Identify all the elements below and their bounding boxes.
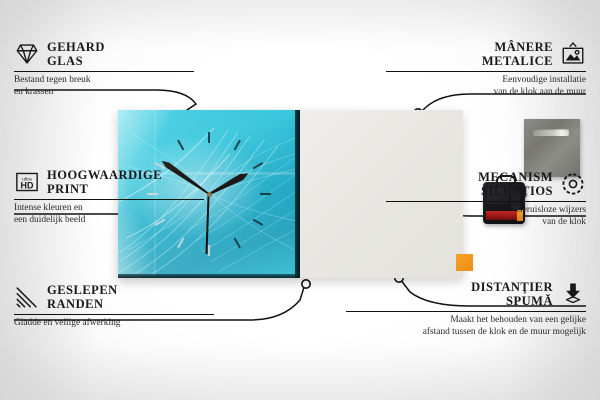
diamond-icon xyxy=(14,41,40,67)
feature-desc-line1: Eenvoudige installatie xyxy=(386,75,586,87)
foam-spacer-square xyxy=(456,254,473,271)
foam-spacer-shadow xyxy=(461,258,477,274)
feature-title: HOOGWAARDIGE PRINT xyxy=(47,168,162,196)
beveled-edges-icon xyxy=(14,284,40,310)
feature-desc-line1: Maakt het behouden van een gelijke xyxy=(346,315,586,327)
feature-divider xyxy=(14,199,204,200)
feature-header: DISTANŢIER SPUMĂ xyxy=(346,280,586,308)
feature-foam-spacer: DISTANŢIER SPUMĂ Maakt het behouden van … xyxy=(346,280,586,338)
gear-icon xyxy=(560,171,586,197)
infographic-canvas: GEHARD GLAS Bestand tegen breuk en krass… xyxy=(0,0,600,400)
feature-divider xyxy=(386,71,586,72)
feature-title: GEHARD GLAS xyxy=(47,40,105,68)
feature-desc-line2: en krassen xyxy=(14,87,194,99)
feature-title: MECANISM SILENŢIOS xyxy=(478,170,553,198)
feature-header: GESLEPEN RANDEN xyxy=(14,283,214,311)
feature-polished-edges: GESLEPEN RANDEN Gladde en veilige afwerk… xyxy=(14,283,214,330)
feature-tempered-glass: GEHARD GLAS Bestand tegen breuk en krass… xyxy=(14,40,194,98)
ultra-hd-icon: ultra HD xyxy=(14,169,40,195)
feature-header: MÂNERE METALICE xyxy=(386,40,586,68)
feature-high-quality-print: ultra HD HOOGWAARDIGE PRINT Intense kleu… xyxy=(14,168,204,226)
feature-divider xyxy=(386,201,586,202)
feature-desc-line2: van de klok xyxy=(386,217,586,229)
feature-divider xyxy=(346,311,586,312)
picture-hanger-icon xyxy=(560,41,586,67)
feature-desc-line1: Intense kleuren en xyxy=(14,203,204,215)
feature-desc-line1: Geruisloze wijzers xyxy=(386,205,586,217)
clock-bottom-edge xyxy=(118,274,300,278)
clock-tick xyxy=(209,193,271,195)
feature-header: ultra HD HOOGWAARDIGE PRINT xyxy=(14,168,204,196)
feature-title: MÂNERE METALICE xyxy=(482,40,553,68)
feature-desc-line2: afstand tussen de klok en de muur mogeli… xyxy=(346,327,586,339)
feature-divider xyxy=(14,71,194,72)
feature-desc-line2: van de klok aan de muur xyxy=(386,87,586,99)
feature-desc-line1: Gladde en veilige afwerking xyxy=(14,318,214,330)
plate-grain xyxy=(524,119,580,177)
feature-desc-line1: Bestand tegen breuk xyxy=(14,75,194,87)
feature-header: GEHARD GLAS xyxy=(14,40,194,68)
feature-metal-handles: MÂNERE METALICE Eenvoudige installatie v… xyxy=(386,40,586,98)
feature-title: DISTANŢIER SPUMĂ xyxy=(471,280,553,308)
metal-hanger-plate xyxy=(524,119,580,177)
marker-edges xyxy=(302,280,310,288)
ultra-hd-icon-bottom: HD xyxy=(21,181,34,191)
spacer-arrow-icon xyxy=(560,281,586,307)
clock-tick xyxy=(208,132,210,194)
feature-desc-line2: een duidelijk beeld xyxy=(14,215,204,227)
feature-divider xyxy=(14,314,214,315)
feature-title: GESLEPEN RANDEN xyxy=(47,283,118,311)
clock-center-pivot xyxy=(207,192,212,197)
plate-slot xyxy=(533,129,569,136)
feature-header: MECANISM SILENŢIOS xyxy=(386,170,586,198)
feature-silent-mechanism: MECANISM SILENŢIOS Geruisloze wijzers va… xyxy=(386,170,586,228)
